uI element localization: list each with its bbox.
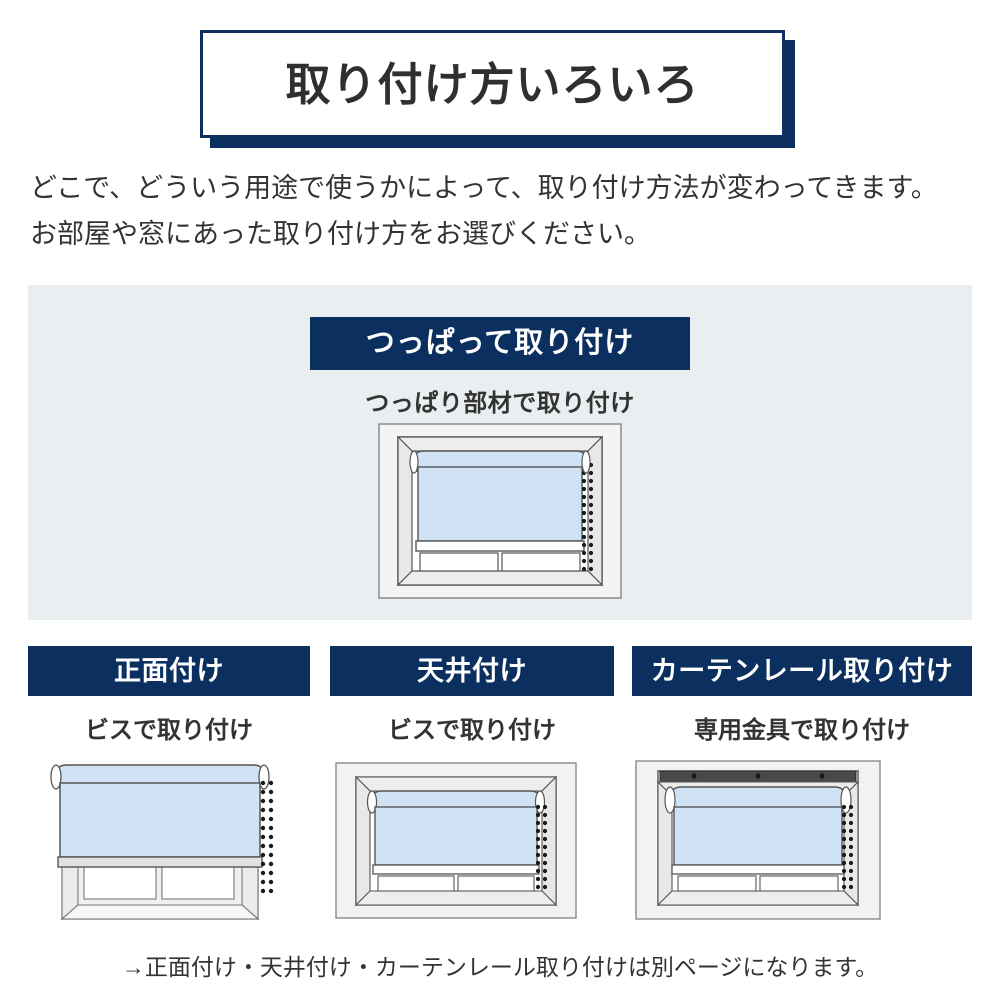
roller-blind-curtain-rail-mount-icon [632, 757, 884, 922]
bead-chain-icon [261, 781, 273, 893]
column-front-mount[interactable]: 正面付け ビスで取り付け [28, 646, 310, 922]
roller-blind-tension-mount-icon [378, 423, 622, 599]
tension-mount-panel: つっぱって取り付け つっぱり部材で取り付け [28, 285, 972, 620]
column-ceiling-mount-illustration [330, 757, 614, 922]
tension-mount-header: つっぱって取り付け [310, 317, 690, 370]
column-front-mount-illustration [28, 757, 310, 922]
footnote-text: →正面付け・天井付け・カーテンレール取り付けは別ページになります。 [0, 948, 1000, 982]
column-curtain-rail-mount-illustration [632, 757, 972, 922]
column-front-mount-subtitle: ビスで取り付け [28, 710, 310, 745]
column-front-mount-header: 正面付け [28, 646, 310, 696]
tension-mount-header-label: つっぱって取り付け [366, 329, 635, 358]
column-front-mount-label: 正面付け [114, 658, 224, 685]
column-curtain-rail-mount-label: カーテンレール取り付け [651, 658, 954, 685]
intro-line-2: お部屋や窓にあった取り付け方をお選びください。 [30, 211, 980, 257]
roller-blind-front-mount-icon [28, 757, 292, 922]
column-curtain-rail-mount-header: カーテンレール取り付け [632, 646, 972, 696]
column-curtain-rail-mount[interactable]: カーテンレール取り付け 専用金具で取り付け [632, 646, 972, 922]
tension-mount-illustration [378, 423, 622, 599]
column-curtain-rail-mount-subtitle: 専用金具で取り付け [632, 710, 972, 745]
title-box: 取り付け方いろいろ [200, 30, 785, 138]
column-ceiling-mount[interactable]: 天井付け ビスで取り付け [330, 646, 614, 922]
page-title: 取り付け方いろいろ [285, 62, 699, 107]
column-ceiling-mount-subtitle: ビスで取り付け [330, 710, 614, 745]
column-ceiling-mount-label: 天井付け [417, 658, 527, 685]
mount-type-columns: 正面付け ビスで取り付け [28, 646, 972, 936]
roller-blind-ceiling-mount-icon [330, 757, 582, 922]
intro-line-1: どこで、どういう用途で使うかによって、取り付け方法が変わってきます。 [30, 165, 980, 211]
column-ceiling-mount-header: 天井付け [330, 646, 614, 696]
page-title-banner: 取り付け方いろいろ [200, 30, 785, 138]
page-root: 取り付け方いろいろ どこで、どういう用途で使うかによって、取り付け方法が変わって… [0, 0, 1000, 1000]
tension-mount-subtitle: つっぱり部材で取り付け [28, 383, 972, 418]
intro-paragraph: どこで、どういう用途で使うかによって、取り付け方法が変わってきます。 お部屋や窓… [30, 165, 980, 257]
